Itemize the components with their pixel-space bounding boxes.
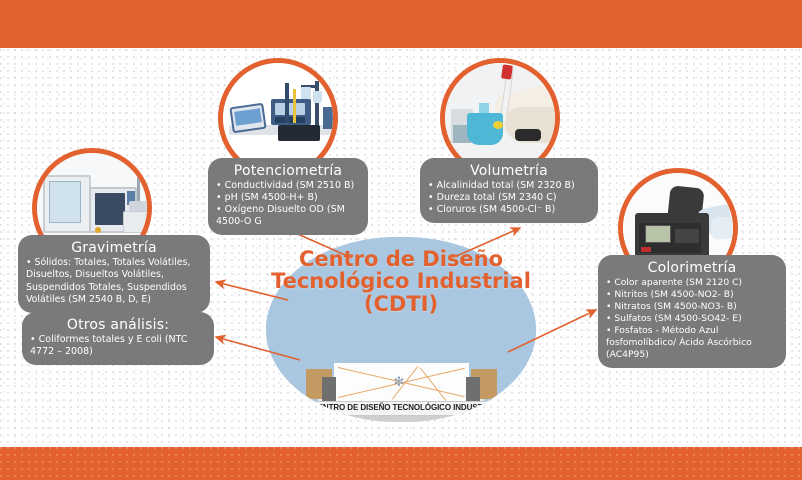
info-title-volumetria: Volumetría xyxy=(428,163,590,179)
building-sign: CENTRO DE DISEÑO TECNOLÓGICO INDUSTRIAL.… xyxy=(306,401,502,416)
info-list-otros-analisis: Coliformes totales y E coli (NTC 4772 – … xyxy=(30,334,206,358)
list-item: Sulfatos (SM 4500-SO42- E) xyxy=(606,313,778,325)
list-item: pH (SM 4500-H+ B) xyxy=(216,192,360,204)
info-list-colorimetria: Color aparente (SM 2120 C) Nitritos (SM … xyxy=(606,277,778,361)
info-title-potenciometria: Potenciometría xyxy=(216,163,360,179)
info-title-otros-analisis: Otros análisis: xyxy=(30,317,206,333)
info-list-gravimetria: Sólidos: Totales, Totales Volátiles, Dis… xyxy=(26,257,202,306)
info-list-potenciometria: Conductividad (SM 2510 B) pH (SM 4500-H+… xyxy=(216,180,360,228)
info-box-gravimetria: Gravimetría Sólidos: Totales, Totales Vo… xyxy=(18,235,210,313)
info-box-potenciometria: Potenciometría Conductividad (SM 2510 B)… xyxy=(208,158,368,235)
list-item: Oxígeno Disuelto OD (SM 4500-O G xyxy=(216,204,360,228)
list-item: Nitritos (SM 4500-NO2- B) xyxy=(606,289,778,301)
list-item: Dureza total (SM 2340 C) xyxy=(428,192,590,204)
info-title-gravimetria: Gravimetría xyxy=(26,240,202,256)
bottom-orange-band xyxy=(0,447,802,480)
list-item: Conductividad (SM 2510 B) xyxy=(216,180,360,192)
info-box-otros-analisis: Otros análisis: Coliformes totales y E c… xyxy=(22,312,214,365)
info-box-volumetria: Volumetría Alcalinidad total (SM 2320 B)… xyxy=(420,158,598,223)
list-item: Color aparente (SM 2120 C) xyxy=(606,277,778,289)
building-left-window xyxy=(322,377,336,401)
list-item: Sólidos: Totales, Totales Volátiles, Dis… xyxy=(26,257,202,306)
list-item: Nitratos (SM 4500-NO3- B) xyxy=(606,301,778,313)
list-item: Cloruros (SM 4500-Cl⁻ B) xyxy=(428,204,590,216)
info-list-volumetria: Alcalinidad total (SM 2320 B) Dureza tot… xyxy=(428,180,590,216)
list-item: Alcalinidad total (SM 2320 B) xyxy=(428,180,590,192)
infographic-canvas: Análisis Físicoquímicos para agua tratad… xyxy=(0,0,802,480)
building-logo-icon: ✻ xyxy=(392,375,406,389)
ph-meter-photo xyxy=(223,63,333,173)
building-ground xyxy=(310,416,498,422)
info-title-colorimetria: Colorimetría xyxy=(606,260,778,276)
title-banner xyxy=(0,0,802,48)
center-label: Centro de Diseño Tecnológico Industrial … xyxy=(266,248,536,315)
building-right-window xyxy=(466,377,480,401)
titration-flask-photo xyxy=(445,63,555,173)
building-sign-text: CENTRO DE DISEÑO TECNOLÓGICO INDUSTRIAL.… xyxy=(312,403,502,412)
list-item: Fosfatos - Método Azul fosfomolíbdico/ Á… xyxy=(606,325,778,361)
bottom-band-dot-pattern xyxy=(0,447,802,480)
info-box-colorimetria: Colorimetría Color aparente (SM 2120 C) … xyxy=(598,255,786,368)
list-item: Coliformes totales y E coli (NTC 4772 – … xyxy=(30,334,206,358)
